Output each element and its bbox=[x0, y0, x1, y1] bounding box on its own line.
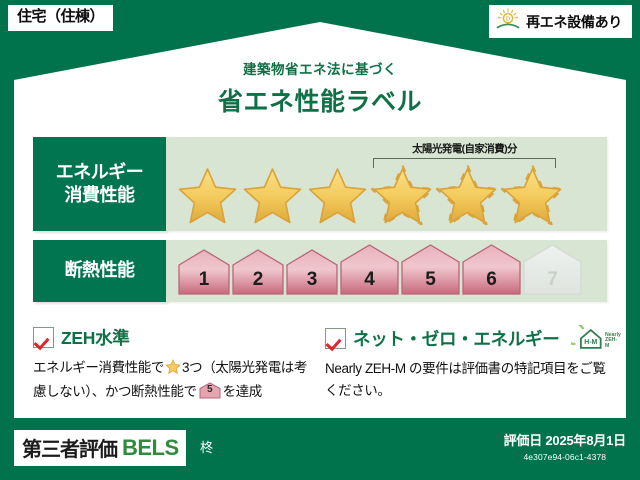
svg-text:D: D bbox=[506, 16, 511, 23]
evaluation-id: 4e307e94-06c1-4378 bbox=[504, 452, 626, 462]
svg-text:H-M: H-M bbox=[585, 339, 598, 346]
grade-number: 7 bbox=[523, 269, 582, 291]
bels-extra-mark: 柊 bbox=[200, 437, 213, 456]
solar-bracket-label: 太陽光発電(自家消費)分 bbox=[373, 141, 556, 156]
energy-consumption-row: エネルギー 消費性能 太陽光発電(自家消費)分 bbox=[33, 137, 607, 231]
bels-certification-badge: 第三者評価 BELS bbox=[14, 430, 186, 466]
grade-number: 1 bbox=[178, 269, 230, 291]
energy-label-line2: 消費性能 bbox=[65, 184, 135, 207]
zeh-m-caption-line2: ZEH-M bbox=[605, 337, 617, 348]
bels-prefix: 第三者評価 bbox=[22, 433, 117, 462]
zeh-desc-part1: エネルギー消費性能で bbox=[33, 360, 164, 375]
grade-number: 3 bbox=[286, 269, 338, 291]
energy-rating-area: 太陽光発電(自家消費)分 bbox=[166, 137, 607, 231]
grade-badge-number: 5 bbox=[199, 382, 221, 398]
energy-label-line1: エネルギー bbox=[56, 161, 144, 184]
grade-house-icon: 6 bbox=[462, 243, 521, 296]
star-icon bbox=[165, 359, 181, 381]
evaluation-date: 評価日 2025年8月1日 bbox=[504, 430, 626, 449]
solar-portion-bracket: 太陽光発電(自家消費)分 bbox=[373, 141, 556, 168]
renewable-equipment-badge: D 再エネ設備あり bbox=[489, 5, 632, 38]
insulation-grade-scale: 1 2 3 4 bbox=[178, 243, 582, 296]
star-solar-icon bbox=[501, 165, 564, 225]
evaluation-info: 評価日 2025年8月1日 4e307e94-06c1-4378 bbox=[504, 430, 626, 462]
label-title: 建築物省エネ法に基づく 省エネ性能ラベル bbox=[0, 58, 640, 118]
star-icon bbox=[306, 165, 369, 225]
solar-sun-icon: D bbox=[495, 8, 521, 35]
grade-number: 2 bbox=[232, 269, 284, 291]
grade-house-icon: 5 bbox=[401, 243, 460, 296]
title-main: 省エネ性能ラベル bbox=[0, 82, 640, 118]
energy-consumption-label: エネルギー 消費性能 bbox=[33, 137, 166, 231]
title-subtitle: 建築物省エネ法に基づく bbox=[0, 58, 640, 78]
net-zero-energy-check-block: ネット・ゼロ・エネルギー H-M Nearly ZEH-M Nearly ZEH… bbox=[325, 325, 617, 402]
grade-number: 5 bbox=[401, 269, 460, 291]
grade-house-icon: 1 bbox=[178, 248, 230, 296]
checkbox-checked-icon[interactable] bbox=[325, 328, 346, 349]
zeh-standard-check-block: ZEH水準 エネルギー消費性能で3つ（太陽光発電は考慮しない）、かつ断熱性能で5… bbox=[33, 325, 316, 403]
star-icon bbox=[176, 165, 239, 225]
grade-house-icon: 4 bbox=[340, 243, 399, 296]
checkbox-checked-icon[interactable] bbox=[33, 327, 54, 348]
grade-house-icon: 3 bbox=[286, 248, 338, 296]
energy-star-rating bbox=[176, 165, 564, 225]
star-icon bbox=[241, 165, 304, 225]
net-zero-energy-header: ネット・ゼロ・エネルギー H-M Nearly ZEH-M bbox=[325, 325, 617, 351]
insulation-performance-row: 断熱性能 1 bbox=[33, 240, 607, 302]
zeh-m-caption: Nearly ZEH-M bbox=[605, 333, 621, 351]
grade-house-icon: 2 bbox=[232, 248, 284, 296]
insulation-label-text: 断熱性能 bbox=[65, 259, 135, 282]
net-zero-energy-description: Nearly ZEH-M の要件は評価書の特記項目をご覧ください。 bbox=[325, 358, 617, 402]
net-zero-energy-title: ネット・ゼロ・エネルギー bbox=[353, 326, 559, 351]
insulation-rating-area: 1 2 3 4 bbox=[166, 240, 607, 302]
building-type-tag: 住宅（住棟） bbox=[8, 5, 113, 31]
zeh-standard-description: エネルギー消費性能で3つ（太陽光発電は考慮しない）、かつ断熱性能で5を達成 bbox=[33, 357, 316, 403]
star-solar-icon bbox=[371, 165, 434, 225]
bels-name: BELS bbox=[122, 435, 179, 461]
grade-house-icon: 7 bbox=[523, 243, 582, 296]
zeh-standard-header: ZEH水準 bbox=[33, 325, 316, 350]
renewable-badge-label: 再エネ設備あり bbox=[526, 12, 622, 32]
zeh-m-house-icon: H-M Nearly ZEH-M bbox=[571, 325, 621, 351]
grade-number: 6 bbox=[462, 269, 521, 291]
zeh-standard-title: ZEH水準 bbox=[61, 325, 130, 350]
insulation-performance-label: 断熱性能 bbox=[33, 240, 166, 302]
energy-performance-label: 住宅（住棟） D 再エネ設備あり 建築物省エネ法に基づく bbox=[0, 0, 640, 480]
grade-number: 4 bbox=[340, 269, 399, 291]
star-solar-icon bbox=[436, 165, 499, 225]
grade-badge-icon: 5 bbox=[199, 382, 221, 399]
zeh-desc-part3: を達成 bbox=[223, 384, 262, 399]
